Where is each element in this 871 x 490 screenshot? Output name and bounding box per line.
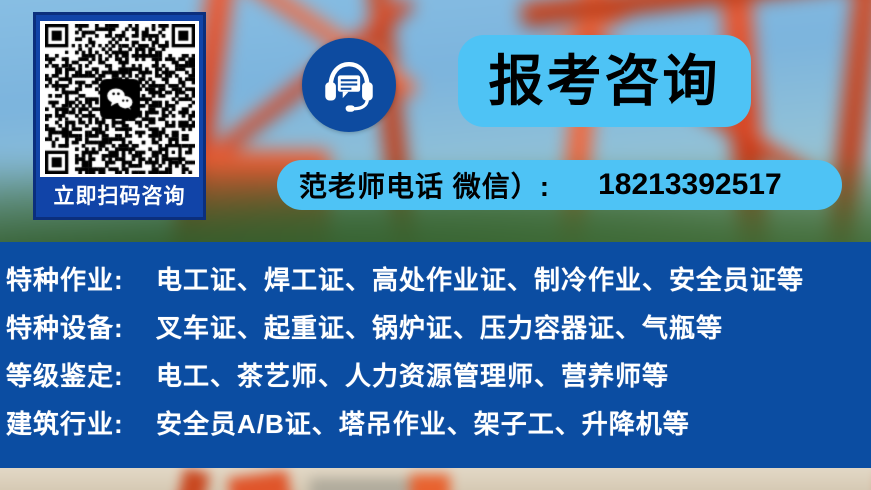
bottom-photo-strip [0,468,871,490]
list-item: 特种作业: 电工证、焊工证、高处作业证、制冷作业、安全员证等 [6,260,871,308]
category-label: 建筑行业: [6,404,156,441]
list-item: 特种设备: 叉车证、起重证、锅炉证、压力容器证、气瓶等 [6,308,871,356]
category-label: 特种作业: [6,260,156,297]
contact-badge[interactable]: 范老师电话 微信）: 18213392517 [277,160,842,210]
list-item: 等级鉴定: 电工、茶艺师、人力资源管理师、营养师等 [6,356,871,404]
title-badge: 报考咨询 [458,35,751,127]
bottom-photo-blur-layer [0,468,871,490]
strip-object [410,474,450,490]
headset-support-icon [302,38,396,132]
strip-object [228,470,292,490]
strip-object [176,468,210,490]
title-text: 报考咨询 [488,54,720,109]
wechat-qr-code-icon[interactable] [45,24,195,174]
category-label: 等级鉴定: [6,356,156,393]
qr-code-image[interactable] [40,21,199,177]
category-label: 特种设备: [6,308,156,345]
contact-phone-number[interactable]: 18213392517 [598,168,782,202]
qr-code-card[interactable]: 立即扫码咨询 [33,12,206,220]
category-value: 安全员A/B证、塔吊作业、架子工、升降机等 [156,404,690,441]
promotional-poster: 立即扫码咨询 报考咨询 范老师电话 微信）: 18213392517 [0,0,871,490]
qr-caption: 立即扫码咨询 [42,177,197,217]
category-value: 电工、茶艺师、人力资源管理师、营养师等 [156,356,669,393]
contact-label: 范老师电话 微信）: [299,165,550,205]
category-value: 叉车证、起重证、锅炉证、压力容器证、气瓶等 [156,308,723,345]
category-list-panel: 特种作业: 电工证、焊工证、高处作业证、制冷作业、安全员证等 特种设备: 叉车证… [0,242,871,468]
list-item: 建筑行业: 安全员A/B证、塔吊作业、架子工、升降机等 [6,404,871,452]
category-value: 电工证、焊工证、高处作业证、制冷作业、安全员证等 [156,260,804,297]
